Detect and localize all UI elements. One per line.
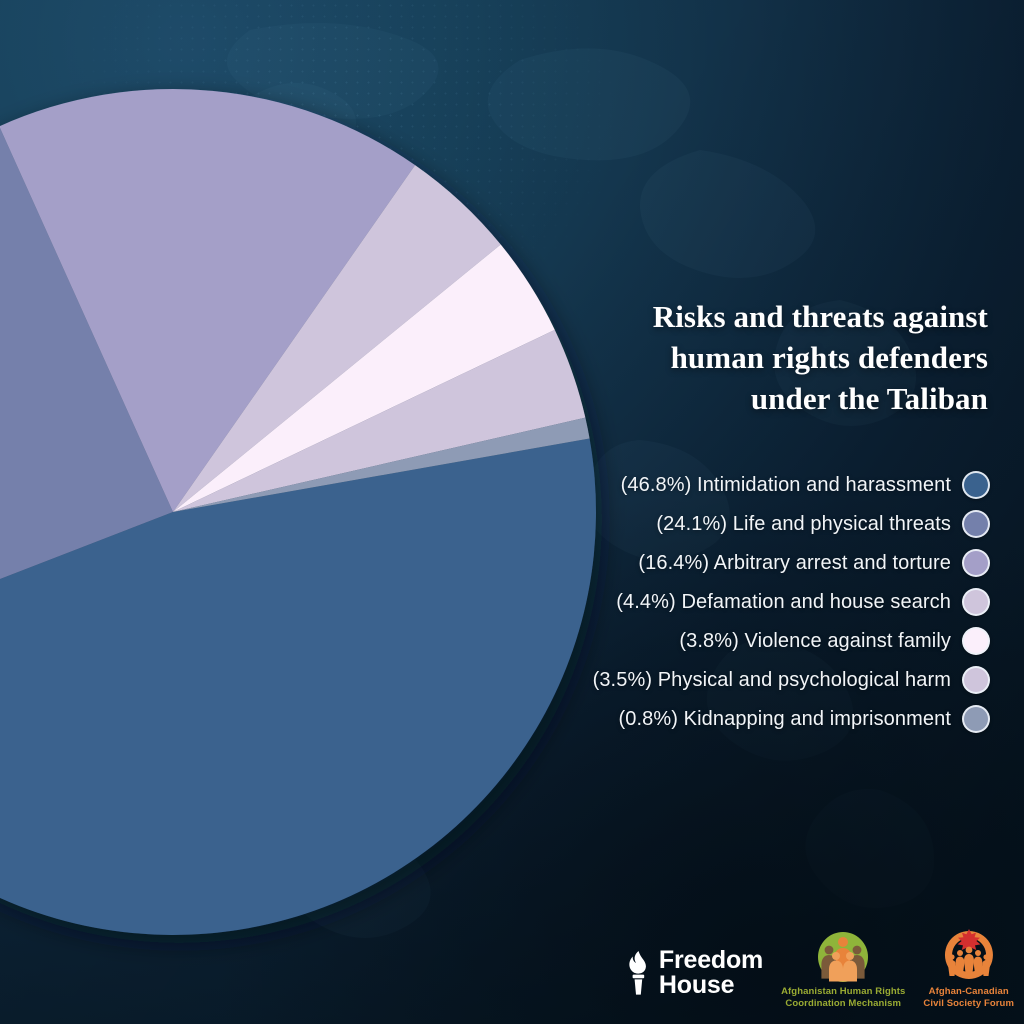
freedom-house-wordmark: Freedom House [659,948,763,998]
legend-color-swatch [962,666,990,694]
legend-item-label: (24.1%) Life and physical threats [656,513,951,536]
legend-color-swatch [962,510,990,538]
infographic-poster: Risks and threats against human rights d… [0,0,1024,1024]
legend-item: (24.1%) Life and physical threats [560,507,990,541]
acsf-wordmark: Afghan-Canadian Civil Society Forum [923,986,1014,1010]
freedom-house-logo: Freedom House [625,948,763,1010]
page-title: Risks and threats against human rights d… [568,296,988,420]
legend-item-label: (4.4%) Defamation and house search [616,591,951,614]
page-title-line-1: Risks and threats against [568,296,988,337]
page-title-line-3: under the Taliban [568,378,988,419]
ahrcm-line-2: Coordination Mechanism [781,998,905,1010]
legend-item: (46.8%) Intimidation and harassment [560,468,990,502]
legend-item: (4.4%) Defamation and house search [560,585,990,619]
ahrcm-logo: Afghanistan Human Rights Coordination Me… [781,931,905,1010]
legend-item-label: (3.5%) Physical and psychological harm [593,669,951,692]
legend-item-label: (0.8%) Kidnapping and imprisonment [619,708,951,731]
legend-color-swatch [962,627,990,655]
pie-slice-group [0,89,596,935]
ahrcm-wordmark: Afghanistan Human Rights Coordination Me… [781,986,905,1010]
torch-icon [625,950,651,996]
legend-color-swatch [962,549,990,577]
legend-color-swatch [962,588,990,616]
legend-item-label: (3.8%) Violence against family [679,630,951,653]
ahrcm-line-1: Afghanistan Human Rights [781,986,905,998]
acsf-line-1: Afghan-Canadian [923,986,1014,998]
maple-people-icon [939,927,999,983]
chart-legend: (46.8%) Intimidation and harassment(24.1… [560,468,990,736]
freedom-house-line-1: Freedom [659,948,763,973]
legend-item: (3.5%) Physical and psychological harm [560,663,990,697]
legend-item-label: (16.4%) Arbitrary arrest and torture [638,552,951,575]
legend-item: (16.4%) Arbitrary arrest and torture [560,546,990,580]
legend-item-label: (46.8%) Intimidation and harassment [621,474,951,497]
page-title-line-2: human rights defenders [568,337,988,378]
people-circle-icon [817,931,869,983]
legend-item: (3.8%) Violence against family [560,624,990,658]
legend-item: (0.8%) Kidnapping and imprisonment [560,702,990,736]
freedom-house-line-2: House [659,973,763,998]
logo-bar: Freedom House [625,927,1014,1010]
acsf-logo: Afghan-Canadian Civil Society Forum [923,927,1014,1010]
legend-color-swatch [962,471,990,499]
acsf-line-2: Civil Society Forum [923,998,1014,1010]
legend-color-swatch [962,705,990,733]
